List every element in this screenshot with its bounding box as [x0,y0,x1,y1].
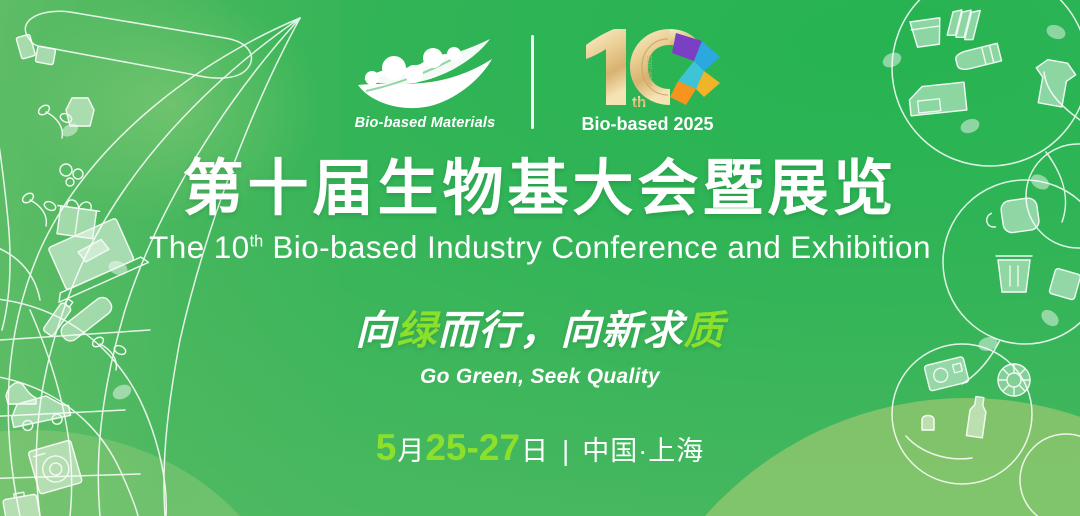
anniversary-ordinal-text: th [632,94,646,111]
date-location-row: 5 月 25-27 日 | 中国·上海 [376,427,705,469]
day-range: 25-27 [425,427,520,469]
bio-based-2025-label: Bio-based 2025 [581,114,713,135]
bio-based-materials-logo: Bio-based Materials [345,33,505,131]
anniversary-logo: 2016-2025 th Bio-based 2025 [560,29,735,135]
logo-divider [531,35,534,129]
english-title-prefix: The 10 [149,229,249,265]
slogan-part-2: 而行，向新求 [438,309,684,353]
slogan-english: Go Green, Seek Quality [420,365,660,389]
slogan-highlight-2: 质 [684,309,725,353]
bio-based-materials-label: Bio-based Materials [355,115,496,131]
logo-row: Bio-based Materials [345,22,735,142]
location-text: 中国·上海 [582,429,704,468]
month-character: 月 [397,429,424,468]
date-place-divider: | [562,435,569,467]
slogan-chinese: 向绿而行，向新求质 [356,298,725,356]
month-number: 5 [376,427,397,469]
leaf-molecule-icon [350,33,500,113]
poster-content: Bio-based Materials [0,0,1080,516]
slogan-part-1: 向 [356,309,397,353]
english-title-ordinal: th [250,233,264,251]
anniversary-10-icon: 2016-2025 th [568,29,728,113]
poster-banner: Bio-based Materials [0,0,1080,516]
chinese-title: 第十届生物基大会暨展览 [182,156,897,220]
english-title: The 10th Bio-based Industry Conference a… [149,229,931,266]
english-title-rest: Bio-based Industry Conference and Exhibi… [263,229,931,265]
slogan-highlight-1: 绿 [397,309,438,353]
anniversary-years-text: 2016-2025 [647,55,654,86]
day-character: 日 [521,429,548,468]
